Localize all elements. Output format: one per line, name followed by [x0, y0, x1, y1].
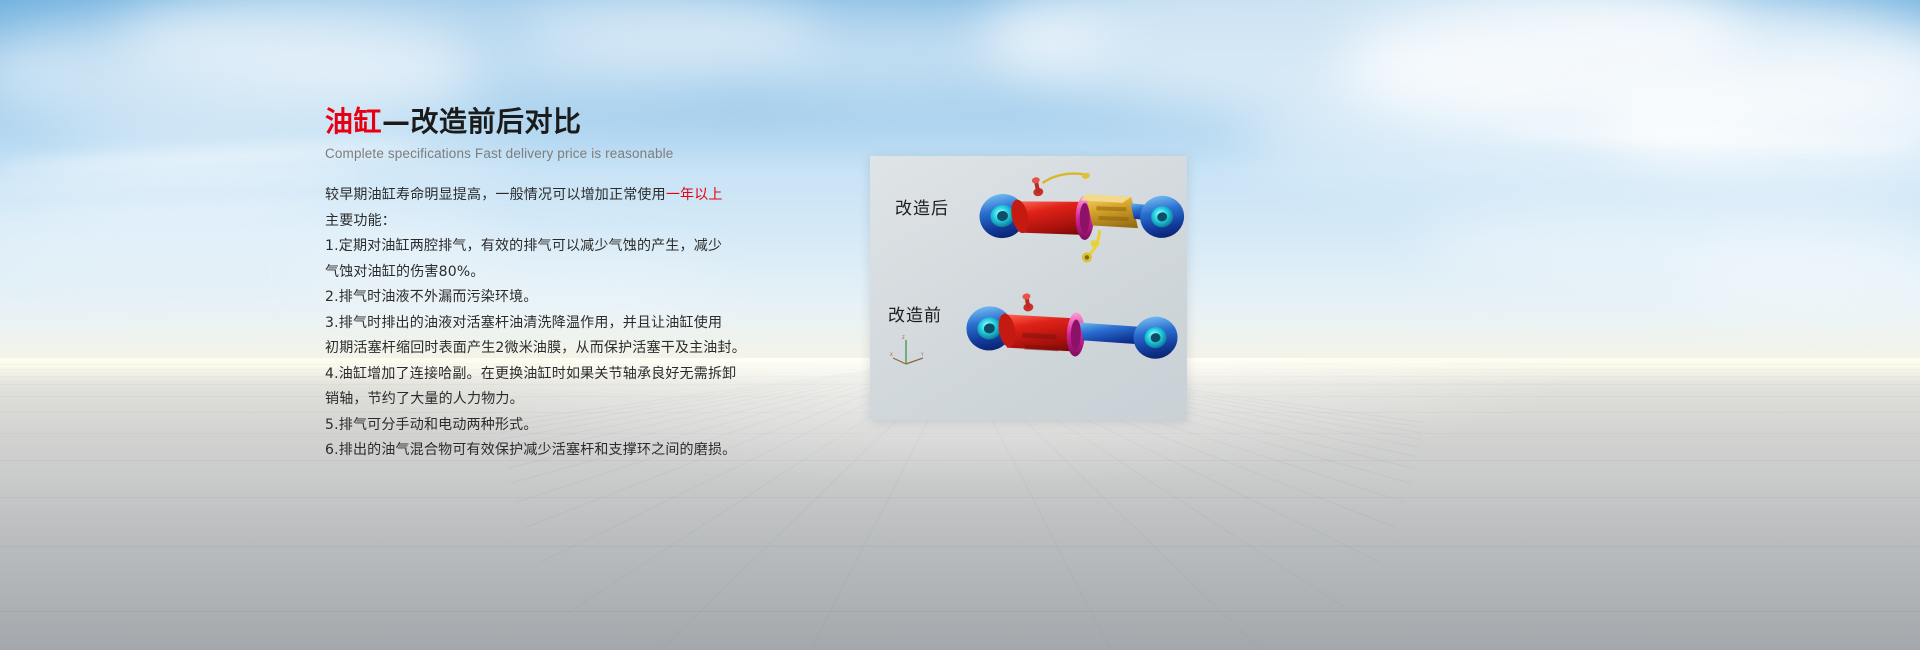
pavement-seam	[0, 546, 1920, 547]
svg-text:Z: Z	[902, 335, 905, 340]
feature-text-line: 5.排气可分手动和电动两种形式。	[325, 413, 745, 439]
feature-text-line: 4.油缸增加了连接哈副。在更换油缸时如果关节轴承良好无需拆卸	[325, 362, 745, 388]
feature-text-line: 较早期油缸寿命明显提高，一般情况可以增加正常使用一年以上	[325, 183, 745, 209]
feature-text-segment: 3.排气时排出的油液对活塞杆油清洗降温作用，并且让油缸使用	[325, 315, 722, 331]
feature-text-line: 气蚀对油缸的伤害80%。	[325, 260, 745, 286]
page-subtitle: Complete specifications Fast delivery pr…	[325, 146, 745, 161]
label-after-modification: 改造后	[895, 194, 949, 219]
pavement-seam	[0, 433, 1920, 434]
svg-text:Y: Y	[920, 352, 924, 357]
pavement-seam	[0, 460, 1920, 461]
feature-text-segment: 较早期油缸寿命明显提高，一般情况可以增加正常使用	[325, 187, 666, 203]
feature-text-segment: 销轴，节约了大量的人力物力。	[325, 391, 524, 407]
coordinate-axis-icon: Z X Y	[890, 334, 926, 368]
banner-content: 油缸—改造前后对比 Complete specifications Fast d…	[325, 104, 745, 464]
feature-text-line: 销轴，节约了大量的人力物力。	[325, 387, 745, 413]
label-before-modification: 改造前	[888, 301, 942, 326]
svg-text:X: X	[890, 352, 893, 357]
feature-text-line: 6.排出的油气混合物可有效保护减少活塞杆和支撑环之间的磨损。	[325, 438, 745, 464]
banner-stage: 油缸—改造前后对比 Complete specifications Fast d…	[0, 0, 1920, 650]
feature-text-line: 主要功能：	[325, 209, 745, 235]
page-title: 油缸—改造前后对比	[325, 104, 745, 140]
feature-text-line: 初期活塞杆缩回时表面产生2微米油膜，从而保护活塞干及主油封。	[325, 336, 745, 362]
feature-text-segment: 4.油缸增加了连接哈副。在更换油缸时如果关节轴承良好无需拆卸	[325, 366, 736, 382]
feature-text-highlight: 一年以上	[666, 187, 723, 203]
feature-text-segment: 初期活塞杆缩回时表面产生2微米油膜，从而保护活塞干及主油封。	[325, 340, 746, 356]
feature-text-segment: 主要功能：	[325, 213, 396, 229]
feature-text-line: 1.定期对油缸两腔排气，有效的排气可以减少气蚀的产生，减少	[325, 234, 745, 260]
title-rest: —改造前后对比	[382, 105, 582, 138]
product-image-panel: 改造后 改造前 Z X Y	[870, 156, 1187, 420]
feature-text-segment: 5.排气可分手动和电动两种形式。	[325, 417, 538, 433]
feature-text-segment: 1.定期对油缸两腔排气，有效的排气可以减少气蚀的产生，减少	[325, 238, 722, 254]
title-highlight: 油缸	[325, 105, 382, 138]
feature-text-block: 较早期油缸寿命明显提高，一般情况可以增加正常使用一年以上主要功能：1.定期对油缸…	[325, 183, 745, 464]
cloud	[760, 40, 1100, 100]
pavement-seam	[0, 497, 1920, 498]
feature-text-segment: 气蚀对油缸的伤害80%。	[325, 264, 485, 280]
feature-text-line: 2.排气时油液不外漏而污染环境。	[325, 285, 745, 311]
feature-text-segment: 6.排出的油气混合物可有效保护减少活塞杆和支撑环之间的磨损。	[325, 442, 736, 458]
pavement-seam	[0, 611, 1920, 612]
feature-text-line: 3.排气时排出的油液对活塞杆油清洗降温作用，并且让油缸使用	[325, 311, 745, 337]
feature-text-segment: 2.排气时油液不外漏而污染环境。	[325, 289, 538, 305]
